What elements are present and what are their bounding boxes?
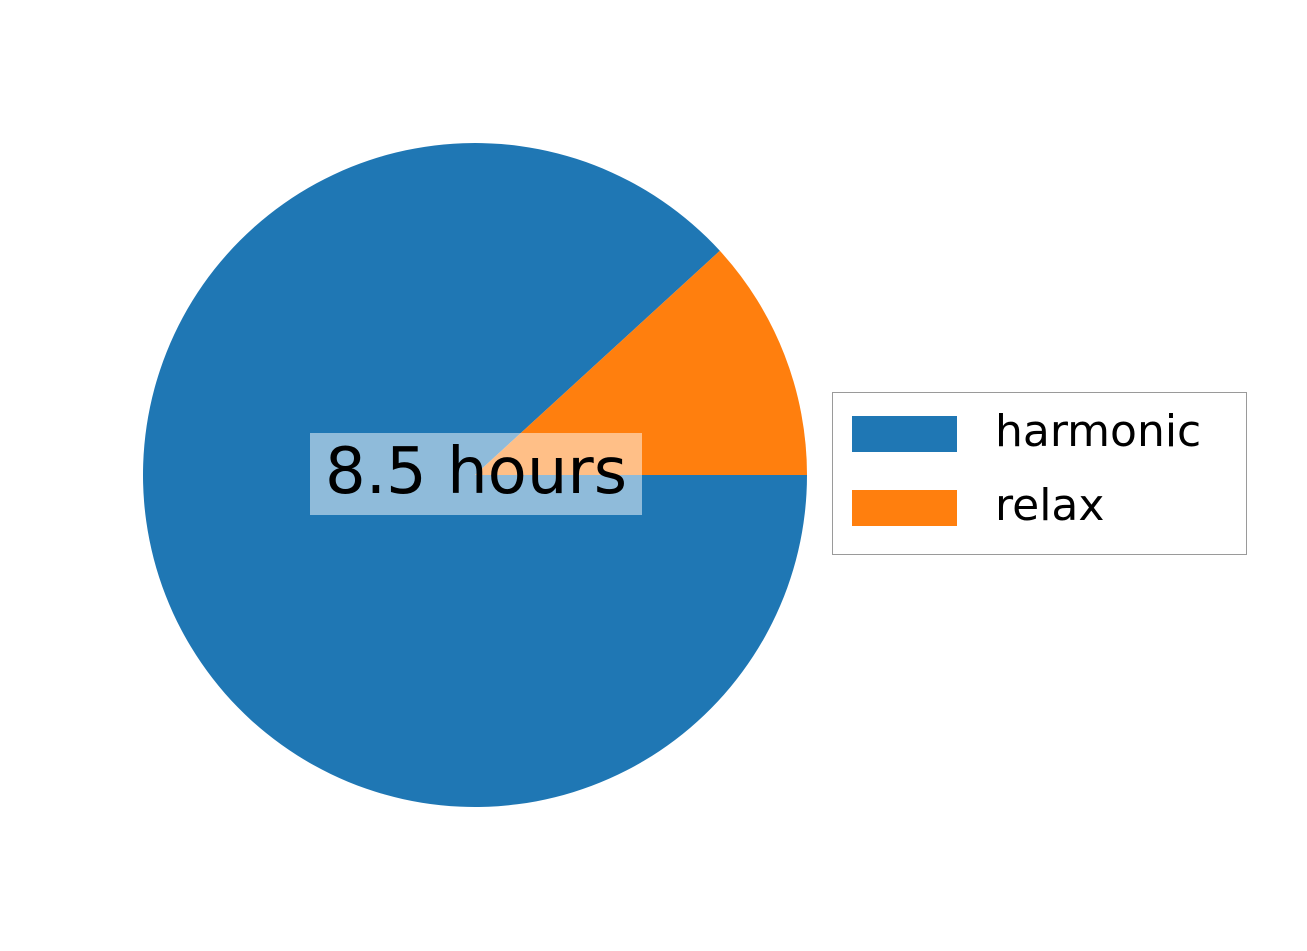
legend-swatch-harmonic bbox=[852, 416, 957, 452]
legend-item-harmonic[interactable]: harmonic bbox=[833, 407, 1201, 461]
center-value-text: 8.5 hours bbox=[325, 440, 627, 508]
legend-label-relax: relax bbox=[995, 484, 1104, 533]
legend-swatch-relax bbox=[852, 490, 957, 526]
legend-label-harmonic: harmonic bbox=[995, 410, 1201, 459]
center-value-label: 8.5 hours bbox=[310, 433, 642, 515]
legend: harmonic relax bbox=[832, 392, 1247, 555]
pie-chart-figure: 8.5 hours harmonic relax bbox=[0, 0, 1307, 951]
legend-item-relax[interactable]: relax bbox=[833, 481, 1104, 535]
